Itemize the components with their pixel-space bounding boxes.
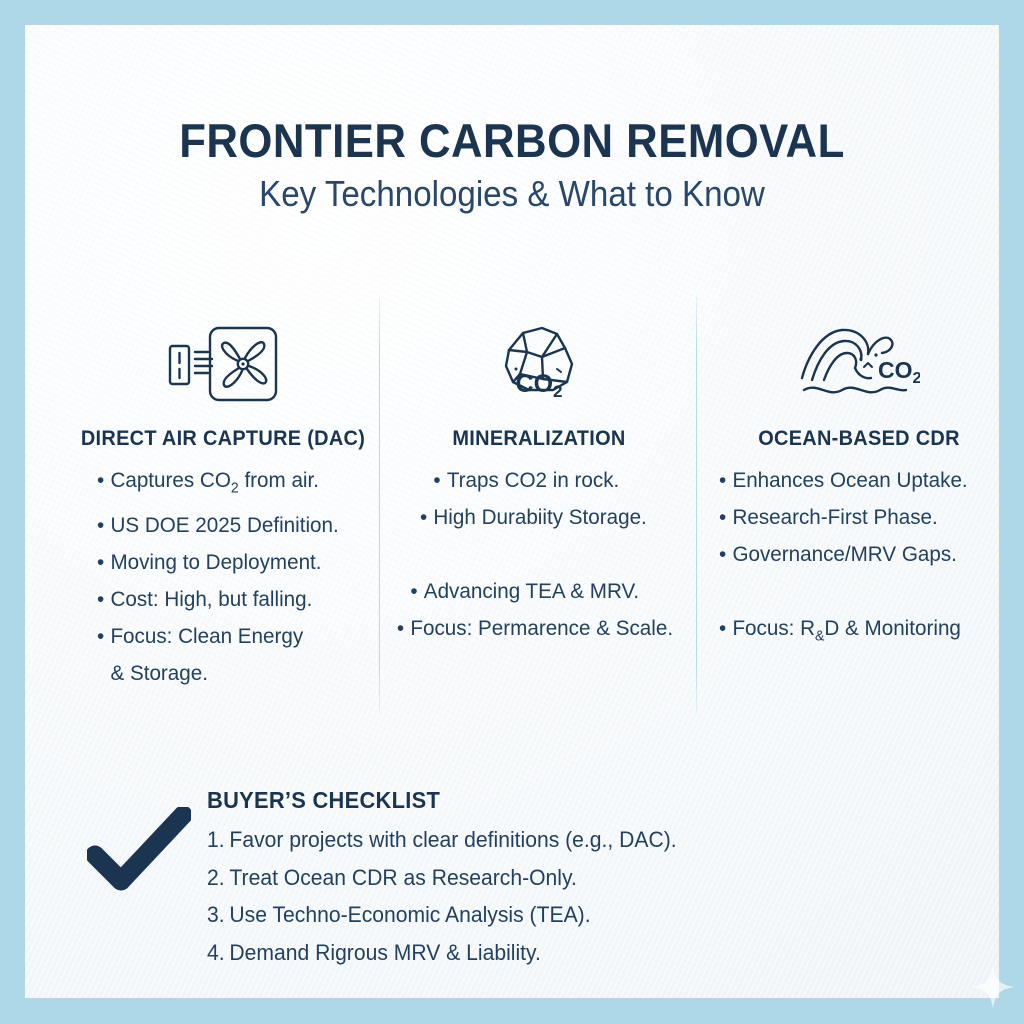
bullet-dot-icon: •	[410, 573, 423, 610]
bullet-dot-icon: •	[420, 499, 433, 536]
checklist-item-text: Favor projects with clear definitions (e…	[229, 827, 676, 852]
bullet-item: •Traps CO2 in rock.	[397, 462, 681, 499]
infographic-canvas: FRONTIER CARBON REMOVAL Key Technologies…	[0, 0, 1024, 1024]
bullet-item: •Advancing TEA & MRV.	[397, 573, 681, 610]
bullet-text: High Durabiity Storage.	[433, 505, 646, 529]
page-subtitle: Key Technologies & What to Know	[64, 173, 960, 215]
bullet-text: Enhances Ocean Uptake.	[732, 468, 967, 492]
column-direct-air-capture: DIRECT AIR CAPTURE (DAC) •Captures CO2 f…	[73, 321, 373, 692]
direct-air-capture-fan-icon	[73, 321, 373, 407]
bullet-text: Captures CO2 from air.	[110, 468, 319, 492]
bullet-list-ocean: •Enhances Ocean Uptake.•Research-First P…	[709, 462, 1009, 655]
checklist-item-number: 1.	[207, 827, 225, 852]
checklist-item: 3.Use Techno-Economic Analysis (TEA).	[207, 896, 764, 934]
bullet-text: Traps CO2 in rock.	[447, 468, 619, 492]
bullet-item: •Captures CO2 from air.	[97, 462, 362, 507]
column-title: DIRECT AIR CAPTURE (DAC)	[81, 427, 366, 451]
checklist-item: 4.Demand Rigrous MRV & Liability.	[207, 934, 764, 972]
checkmark-icon	[87, 807, 191, 891]
bullet-text: & Storage.	[97, 661, 208, 685]
column-divider-2	[696, 297, 697, 713]
checklist-item-number: 4.	[207, 940, 225, 965]
bullet-text: Focus: Clean Energy	[110, 624, 303, 648]
bullet-dot-icon: •	[433, 462, 446, 499]
bullet-dot-icon: •	[719, 536, 732, 573]
bullet-dot-icon: •	[97, 507, 110, 544]
bullet-dot-icon: •	[719, 610, 732, 647]
bullet-item: •Research-First Phase.	[719, 499, 997, 536]
bullet-dot-icon: •	[719, 499, 732, 536]
bullet-dot-icon: •	[97, 544, 110, 581]
mineralization-rock-co2-icon: CO2	[391, 321, 687, 407]
bullet-text: Cost: High, but falling.	[110, 587, 312, 611]
bullet-text: Focus: R&D & Monitoring	[732, 616, 960, 640]
bullet-item: •Cost: High, but falling.	[97, 581, 362, 618]
bullet-item: •US DOE 2025 Definition.	[97, 507, 362, 544]
bullet-text: US DOE 2025 Definition.	[110, 513, 338, 537]
bullet-text: Focus: Permarence & Scale.	[410, 616, 673, 640]
column-mineralization: CO2 MINERALIZATION •Traps CO2 in rock.•H…	[391, 321, 687, 647]
bullet-list-dac: •Captures CO2 from air.•US DOE 2025 Defi…	[73, 462, 373, 692]
bullet-dot-icon: •	[719, 462, 732, 499]
checklist-item-text: Demand Rigrous MRV & Liability.	[229, 940, 540, 965]
checklist-title: BUYER’S CHECKLIST	[207, 787, 758, 814]
bullet-dot-icon: •	[97, 462, 110, 499]
checklist-item-number: 3.	[207, 902, 225, 927]
bullet-item: •Focus: R&D & Monitoring	[719, 610, 997, 655]
column-divider-1	[379, 297, 380, 713]
ocean-wave-co2-icon: CO2	[709, 321, 1009, 407]
infographic-card: FRONTIER CARBON REMOVAL Key Technologies…	[25, 25, 999, 998]
bullet-text: Governance/MRV Gaps.	[732, 542, 956, 566]
bullet-text: Moving to Deployment.	[110, 550, 321, 574]
column-title: OCEAN-BASED CDR	[717, 427, 1002, 451]
bullet-text: Research-First Phase.	[732, 505, 937, 529]
checklist-item: 2.Treat Ocean CDR as Research-Only.	[207, 859, 764, 897]
bullet-item: •Moving to Deployment.	[97, 544, 362, 581]
page-title: FRONTIER CARBON REMOVAL	[59, 113, 965, 168]
sparkle-icon	[969, 963, 1017, 1011]
bullet-item: •Focus: Permarence & Scale.	[397, 610, 681, 647]
bullet-item: •High Durabiity Storage.	[397, 499, 681, 536]
bullet-item: •Focus: Clean Energy	[97, 618, 362, 655]
bullet-dot-icon: •	[397, 610, 410, 647]
checklist-items: 1.Favor projects with clear definitions …	[207, 821, 787, 971]
bullet-text: Advancing TEA & MRV.	[424, 579, 639, 603]
checklist-item: 1.Favor projects with clear definitions …	[207, 821, 764, 859]
column-ocean-based-cdr: CO2 OCEAN-BASED CDR •Enhances Ocean Upta…	[709, 321, 1009, 655]
checklist-item-text: Use Techno-Economic Analysis (TEA).	[229, 902, 590, 927]
buyers-checklist-section: BUYER’S CHECKLIST 1.Favor projects with …	[87, 787, 787, 971]
bullet-item: •Governance/MRV Gaps.	[719, 536, 997, 573]
checklist-item-text: Treat Ocean CDR as Research-Only.	[229, 865, 576, 890]
bullet-dot-icon: •	[97, 581, 110, 618]
svg-text:CO2: CO2	[516, 370, 563, 401]
bullet-list-mineralization: •Traps CO2 in rock.•High Durabiity Stora…	[391, 462, 687, 647]
svg-text:CO2: CO2	[878, 357, 920, 387]
bullet-item: •Enhances Ocean Uptake.	[719, 462, 997, 499]
bullet-item: & Storage.	[97, 655, 362, 692]
bullet-dot-icon: •	[97, 618, 110, 655]
checklist-item-number: 2.	[207, 865, 225, 890]
column-title: MINERALIZATION	[398, 427, 679, 451]
